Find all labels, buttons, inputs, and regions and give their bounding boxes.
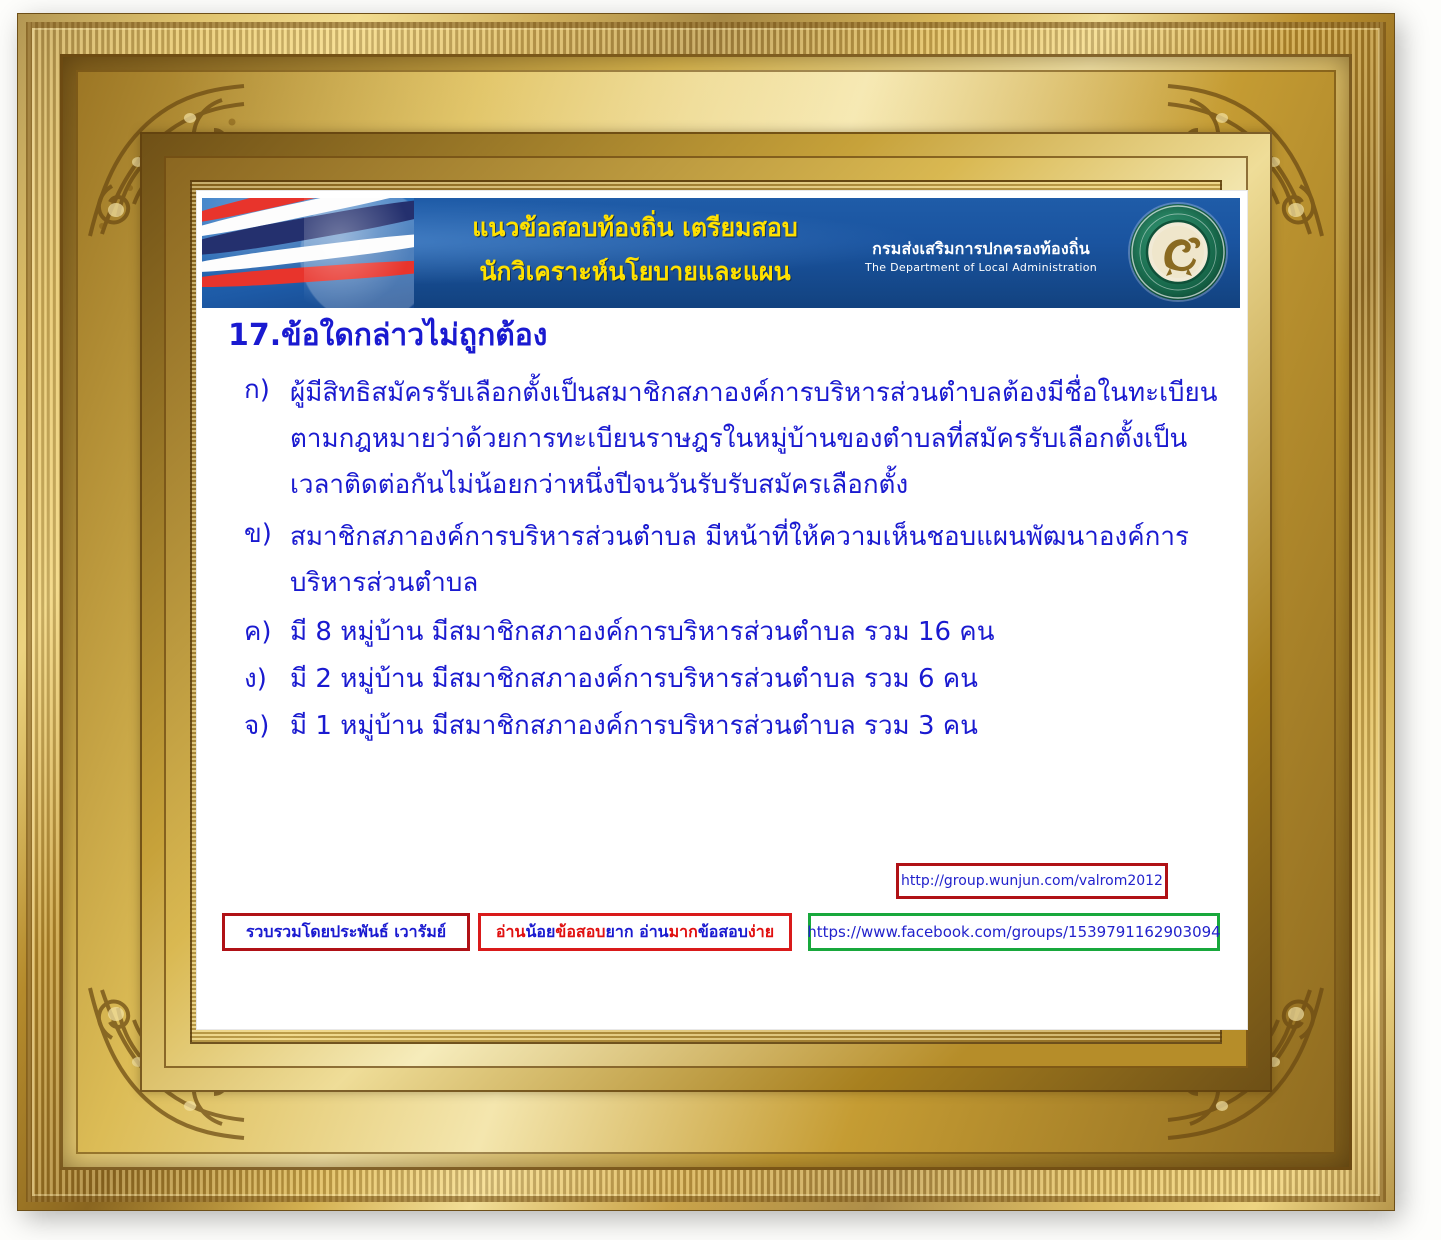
list-item[interactable]: ข) สมาชิกสภาองค์การบริหารส่วนตำบล มีหน้า… <box>244 514 1230 606</box>
department-name-english: The Department of Local Administration <box>852 260 1110 276</box>
motto-part-1: อ่าน <box>496 922 526 941</box>
slide-canvas: แนวข้อสอบท้องถิ่น เตรียมสอบ นักวิเคราะห์… <box>196 190 1248 1030</box>
banner-title: แนวข้อสอบท้องถิ่น เตรียมสอบ นักวิเคราะห์… <box>420 206 850 294</box>
option-text-ka: ผู้มีสิทธิสมัครรับเลือกตั้งเป็นสมาชิกสภา… <box>290 370 1230 508</box>
thai-flag-icon <box>202 198 414 308</box>
motto-part-7: ข้อสอบ <box>698 922 748 941</box>
facebook-url-text: https://www.facebook.com/groups/15397911… <box>807 923 1220 941</box>
page-title: 17.ข้อใดกล่าวไม่ถูกต้อง <box>228 318 547 354</box>
options-list: ก) ผู้มีสิทธิสมัครรับเลือกตั้งเป็นสมาชิก… <box>244 370 1230 753</box>
list-item[interactable]: ง) มี 2 หมู่บ้าน มีสมาชิกสภาองค์การบริหา… <box>244 659 1230 700</box>
header-banner: แนวข้อสอบท้องถิ่น เตรียมสอบ นักวิเคราะห์… <box>202 198 1240 308</box>
department-name-thai: กรมส่งเสริมการปกครองท้องถิ่น <box>852 238 1110 260</box>
option-label-cho: จ) <box>244 706 290 747</box>
motto-part-8: ง่าย <box>748 922 774 941</box>
option-label-kho: ข) <box>244 514 290 555</box>
option-text-kho2: มี 8 หมู่บ้าน มีสมาชิกสภาองค์การบริหารส่… <box>290 612 1230 653</box>
flag-sky-sheen <box>304 198 414 308</box>
credit-box: รวบรวมโดยประพันธ์ เวารัมย์ <box>222 913 470 951</box>
option-label-ka: ก) <box>244 370 290 411</box>
facebook-url-box[interactable]: https://www.facebook.com/groups/15397911… <box>808 913 1220 951</box>
page-root: แนวข้อสอบท้องถิ่น เตรียมสอบ นักวิเคราะห์… <box>0 0 1441 1240</box>
list-item[interactable]: ค) มี 8 หมู่บ้าน มีสมาชิกสภาองค์การบริหา… <box>244 612 1230 653</box>
list-item[interactable]: จ) มี 1 หมู่บ้าน มีสมาชิกสภาองค์การบริหา… <box>244 706 1230 747</box>
motto-box: อ่านน้อยข้อสอบยาก อ่านมากข้อสอบง่าย <box>478 913 792 951</box>
motto-part-6: มาก <box>669 922 698 941</box>
option-text-ngo: มี 2 หมู่บ้าน มีสมาชิกสภาองค์การบริหารส่… <box>290 659 1230 700</box>
motto-part-2: น้อย <box>525 922 555 941</box>
credit-text: รวบรวมโดยประพันธ์ เวารัมย์ <box>246 920 446 945</box>
option-text-kho: สมาชิกสภาองค์การบริหารส่วนตำบล มีหน้าที่… <box>290 514 1230 606</box>
motto-text: อ่านน้อยข้อสอบยาก อ่านมากข้อสอบง่าย <box>496 920 774 945</box>
banner-title-line-1: แนวข้อสอบท้องถิ่น เตรียมสอบ <box>420 206 850 250</box>
option-text-cho: มี 1 หมู่บ้าน มีสมาชิกสภาองค์การบริหารส่… <box>290 706 1230 747</box>
banner-title-line-2: นักวิเคราะห์นโยบายและแผน <box>420 250 850 294</box>
option-label-kho2: ค) <box>244 612 290 653</box>
motto-part-4: ยาก <box>605 922 633 941</box>
option-label-ngo: ง) <box>244 659 290 700</box>
department-name-block: กรมส่งเสริมการปกครองท้องถิ่น The Departm… <box>852 238 1110 276</box>
department-seal-icon <box>1130 204 1226 300</box>
motto-part-5: อ่าน <box>639 922 669 941</box>
group-url-text: http://group.wunjun.com/valrom2012 <box>901 873 1163 889</box>
motto-part-3: ข้อสอบ <box>555 922 605 941</box>
group-url-box[interactable]: http://group.wunjun.com/valrom2012 <box>896 863 1168 899</box>
list-item[interactable]: ก) ผู้มีสิทธิสมัครรับเลือกตั้งเป็นสมาชิก… <box>244 370 1230 508</box>
